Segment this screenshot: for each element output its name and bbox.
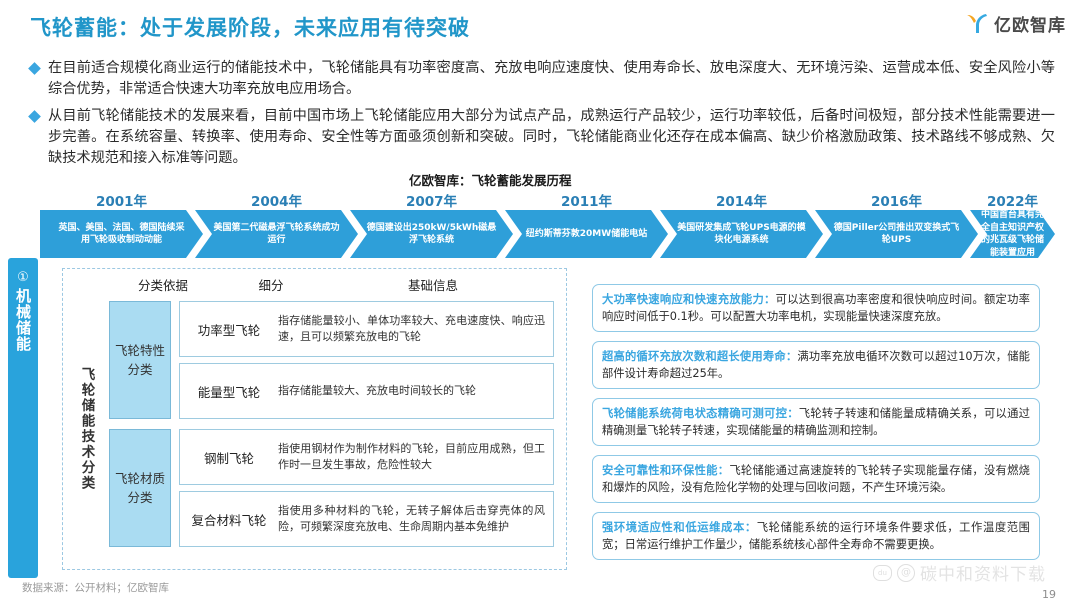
column-header-subtype: 细分 bbox=[226, 275, 316, 294]
timeline: 2001年 英国、美国、法国、德国陆续采用飞轮吸收制动动能 2004年 美国第二… bbox=[40, 188, 1055, 260]
timeline-chevron: 美国研发集成飞轮UPS电源的模块化电源系统 bbox=[660, 210, 823, 258]
column-header-basis: 分类依据 bbox=[115, 275, 211, 294]
timeline-chevron: 中国首台具有完全自主知识产权的兆瓦级飞轮储能装置应用 bbox=[970, 210, 1055, 258]
column-header-info: 基础信息 bbox=[325, 275, 541, 294]
timeline-item-2011: 2011年 纽约斯蒂芬敦20MW储能电站 bbox=[505, 210, 668, 258]
timeline-year: 2007年 bbox=[350, 190, 513, 210]
timeline-year: 2016年 bbox=[815, 190, 978, 210]
timeline-chevron: 英国、美国、法国、德国陆续采用飞轮吸收制动动能 bbox=[40, 210, 203, 258]
section-label: 机械储能 bbox=[14, 288, 32, 352]
slide-page: 飞轮蓄能：处于发展阶段，未来应用有待突破 亿欧智库 在目前适合规模化商业运行的储… bbox=[0, 0, 1080, 607]
row-subtype: 复合材料飞轮 bbox=[180, 510, 278, 529]
callout-lead: 大功率快速响应和快速充放能力： bbox=[602, 293, 776, 306]
bullet-text: 在目前适合规模化商业运行的储能技术中，飞轮储能具有功率密度高、充放电响应速度快、… bbox=[48, 58, 1055, 100]
logo-text: 亿欧智库 bbox=[994, 11, 1066, 36]
timeline-item-2014: 2014年 美国研发集成飞轮UPS电源的模块化电源系统 bbox=[660, 210, 823, 258]
timeline-desc: 美国第二代磁悬浮飞轮系统成功运行 bbox=[210, 222, 344, 247]
row-info: 指使用多种材料的飞轮，无转子解体后击穿壳体的风险，可频繁深度充放电、生命周期内基… bbox=[278, 503, 553, 536]
callout-lead: 超高的循环充放次数和超长使用寿命： bbox=[602, 350, 797, 363]
bullet-text: 从目前飞轮储能技术的发展来看，目前中国市场上飞轮储能应用大部分为试点产品，成熟运… bbox=[48, 106, 1055, 169]
classification-panel: 分类依据 细分 基础信息 飞轮储能技术分类 飞轮特性分类 飞轮材质分类 功率型飞… bbox=[62, 268, 567, 570]
callout-lead: 强环境适应性和低运维成本： bbox=[602, 521, 757, 534]
table-header-row: 分类依据 细分 基础信息 bbox=[63, 275, 566, 295]
timeline-desc: 德国建设出250kW/5kWh磁悬浮飞轮系统 bbox=[365, 222, 499, 247]
table-row: 功率型飞轮 指存储能量较小、单体功率较大、充电速度快、响应迅速，且可以频繁充放电… bbox=[179, 301, 554, 357]
row-info: 指使用钢材作为制作材料的飞轮，目前应用成熟，但工作时一旦发生事故，危险性较大 bbox=[278, 441, 553, 474]
row-info: 指存储能量较大、充放电时间较长的飞轮 bbox=[278, 383, 553, 400]
callout-card: 飞轮储能系统荷电状态精确可测可控：飞轮转子转速和储能量成精确关系，可以通过精确测… bbox=[592, 398, 1040, 446]
page-title: 飞轮蓄能：处于发展阶段，未来应用有待突破 bbox=[30, 12, 470, 42]
section-number: ① bbox=[17, 270, 29, 285]
data-source-note: 数据来源：公开材料；亿欧智库 bbox=[22, 580, 169, 595]
timeline-desc: 中国首台具有完全自主知识产权的兆瓦级飞轮储能装置应用 bbox=[978, 209, 1048, 259]
table-vertical-label: 飞轮储能技术分类 bbox=[71, 303, 101, 555]
timeline-desc: 美国研发集成飞轮UPS电源的模块化电源系统 bbox=[675, 222, 809, 247]
table-row: 能量型飞轮 指存储能量较大、充放电时间较长的飞轮 bbox=[179, 363, 554, 419]
timeline-year: 2022年 bbox=[970, 190, 1055, 210]
timeline-item-2001: 2001年 英国、美国、法国、德国陆续采用飞轮吸收制动动能 bbox=[40, 210, 203, 258]
timeline-chevron: 德国Piller公司推出双变换式飞轮UPS bbox=[815, 210, 978, 258]
timeline-chevron: 美国第二代磁悬浮飞轮系统成功运行 bbox=[195, 210, 358, 258]
yiou-sprout-logo-icon bbox=[964, 10, 990, 36]
row-subtype: 能量型飞轮 bbox=[180, 382, 278, 401]
group-cell-characteristics: 飞轮特性分类 bbox=[109, 301, 171, 419]
timeline-item-2016: 2016年 德国Piller公司推出双变换式飞轮UPS bbox=[815, 210, 978, 258]
callout-card: 强环境适应性和低运维成本：飞轮储能系统的运行环境条件要求低，工作温度范围宽；日常… bbox=[592, 512, 1040, 560]
timeline-year: 2004年 bbox=[195, 190, 358, 210]
diamond-bullet-icon bbox=[28, 62, 41, 75]
brand-logo: 亿欧智库 bbox=[964, 10, 1066, 36]
callout-lead: 飞轮储能系统荷电状态精确可测可控： bbox=[602, 407, 799, 420]
table-row: 钢制飞轮 指使用钢材作为制作材料的飞轮，目前应用成熟，但工作时一旦发生事故，危险… bbox=[179, 429, 554, 485]
timeline-year: 2014年 bbox=[660, 190, 823, 210]
row-subtype: 钢制飞轮 bbox=[180, 448, 278, 467]
page-number: 19 bbox=[1042, 588, 1056, 601]
timeline-desc: 纽约斯蒂芬敦20MW储能电站 bbox=[520, 228, 654, 241]
group-cell-material: 飞轮材质分类 bbox=[109, 429, 171, 547]
callout-card: 安全可靠性和环保性能：飞轮储能通过高速旋转的飞轮转子实现能量存储，没有燃烧和爆炸… bbox=[592, 455, 1040, 503]
bullet-item: 从目前飞轮储能技术的发展来看，目前中国市场上飞轮储能应用大部分为试点产品，成熟运… bbox=[30, 106, 1055, 169]
timeline-banner: 亿欧智库：飞轮蓄能发展历程 bbox=[409, 170, 572, 189]
timeline-chevron: 德国建设出250kW/5kWh磁悬浮飞轮系统 bbox=[350, 210, 513, 258]
timeline-chevron: 纽约斯蒂芬敦20MW储能电站 bbox=[505, 210, 668, 258]
advantage-callout-list: 大功率快速响应和快速充放能力：可以达到很高功率密度和很快响应时间。额定功率响应时… bbox=[592, 284, 1040, 569]
timeline-desc: 英国、美国、法国、德国陆续采用飞轮吸收制动动能 bbox=[55, 222, 189, 247]
callout-lead: 安全可靠性和环保性能： bbox=[602, 464, 729, 477]
callout-card: 大功率快速响应和快速充放能力：可以达到很高功率密度和很快响应时间。额定功率响应时… bbox=[592, 284, 1040, 332]
timeline-item-2022: 2022年 中国首台具有完全自主知识产权的兆瓦级飞轮储能装置应用 bbox=[970, 210, 1055, 258]
row-info: 指存储能量较小、单体功率较大、充电速度快、响应迅速，且可以频繁充放电的飞轮 bbox=[278, 313, 553, 346]
table-row: 复合材料飞轮 指使用多种材料的飞轮，无转子解体后击穿壳体的风险，可频繁深度充放电… bbox=[179, 491, 554, 547]
section-tab-mechanical-storage: ① 机械储能 bbox=[8, 258, 38, 578]
timeline-desc: 德国Piller公司推出双变换式飞轮UPS bbox=[830, 222, 964, 247]
diamond-bullet-icon bbox=[28, 110, 41, 123]
timeline-year: 2001年 bbox=[40, 190, 203, 210]
bullet-item: 在目前适合规模化商业运行的储能技术中，飞轮储能具有功率密度高、充放电响应速度快、… bbox=[30, 58, 1055, 100]
timeline-item-2004: 2004年 美国第二代磁悬浮飞轮系统成功运行 bbox=[195, 210, 358, 258]
timeline-item-2007: 2007年 德国建设出250kW/5kWh磁悬浮飞轮系统 bbox=[350, 210, 513, 258]
timeline-year: 2011年 bbox=[505, 190, 668, 210]
row-subtype: 功率型飞轮 bbox=[180, 320, 278, 339]
callout-card: 超高的循环充放次数和超长使用寿命：满功率充放电循环次数可以超过10万次，储能部件… bbox=[592, 341, 1040, 389]
bullet-list: 在目前适合规模化商业运行的储能技术中，飞轮储能具有功率密度高、充放电响应速度快、… bbox=[30, 58, 1055, 175]
